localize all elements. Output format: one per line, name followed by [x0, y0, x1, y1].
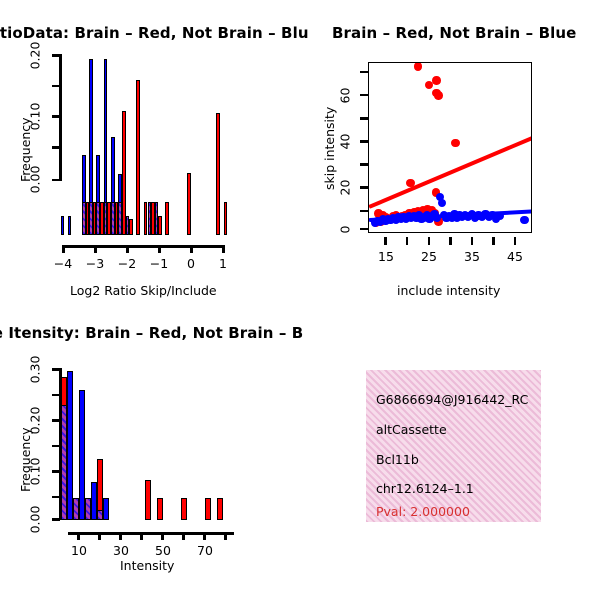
ratio-x-label-0: 0 [180, 256, 202, 271]
scatter-y-label-60: 60 [338, 85, 353, 107]
intensity-bar-red-12 [205, 498, 211, 520]
intensity-y-tick-005 [52, 496, 60, 499]
intensity-bar-overlap-3 [97, 510, 103, 520]
ratio-y-label-010: 0.10 [28, 100, 43, 134]
scatter-point-red-6 [406, 179, 414, 187]
scatter-x-label-45: 45 [503, 249, 527, 264]
probe-info-box: G6866694@J916442_RC altCassette Bcl11b c… [366, 370, 541, 522]
ratio-bar-red-9 [129, 219, 133, 235]
intensity-bar-red-10 [181, 498, 187, 520]
scatter-y-tick-70 [360, 71, 368, 74]
scatter-point-red-4 [434, 91, 442, 99]
intensity-bar-overlap-2 [85, 498, 91, 520]
intensity-x-label-30: 30 [109, 543, 133, 558]
scatter-y-tick-50 [360, 117, 368, 120]
intensity-y-tick-010 [52, 470, 60, 473]
ratio-y-label-000: 0.00 [28, 163, 43, 197]
ratio-bar-red-21 [216, 113, 219, 235]
ratio-histogram-plot-area [60, 55, 235, 235]
ratio-x-label-1: 1 [212, 256, 234, 271]
ratio-bar-red-11 [144, 202, 147, 235]
scatter-ylabel: skip intensity [322, 107, 337, 190]
scatter-x-tick-15 [384, 237, 387, 245]
info-locus: chr12.6124–1.1 [376, 481, 474, 496]
ratio-bar-red-13 [158, 216, 162, 235]
intensity-x-label-50: 50 [151, 543, 175, 558]
ratio-bar-overlap-7 [111, 202, 115, 235]
intensity-bar-red-8 [157, 498, 163, 520]
scatter-x-tick-30 [449, 237, 452, 245]
ratio-bar-overlap-13 [155, 202, 159, 235]
intensity-x-tick-60 [182, 532, 185, 540]
intensity-x-tick-20 [98, 532, 101, 540]
scatter-x-label-25: 25 [417, 249, 441, 264]
intensity-y-label-010: 0.10 [28, 455, 43, 489]
intensity-bar-overlap-0 [61, 405, 67, 520]
scatter-x-label-35: 35 [460, 249, 484, 264]
intensity-x-tick-70 [203, 532, 206, 540]
intensity-y-label-000: 0.00 [28, 503, 43, 537]
intensity-y-tick-030 [52, 368, 60, 371]
intensity-histogram-xlabel: Intensity [120, 558, 174, 573]
intensity-bar-blue-3 [103, 498, 109, 520]
scatter-point-red-2 [432, 76, 440, 84]
ratio-x-tick-m4 [62, 245, 65, 253]
scatter-xlabel: include intensity [397, 283, 500, 298]
ratio-histogram-xaxis [62, 245, 224, 248]
ratio-bar-overlap-5 [96, 202, 100, 235]
ratio-x-tick-0 [190, 245, 193, 253]
intensity-y-tick-020 [52, 419, 60, 422]
ratio-bar-red-10 [136, 80, 139, 235]
scatter-y-tick-10 [360, 210, 368, 213]
ratio-bar-red-22 [224, 202, 227, 235]
panel-ratio-histogram: RatioData: Brain – Red, Not Brain – Blu … [0, 0, 300, 300]
scatter-y-tick-0 [360, 228, 368, 231]
intensity-y-tick-025 [52, 394, 60, 397]
ratio-bar-red-17 [187, 173, 190, 235]
scatter-x-tick-35 [471, 237, 474, 245]
intensity-bar-overlap-1 [73, 498, 79, 520]
intensity-x-tick-50 [161, 532, 164, 540]
ratio-bar-overlap-4 [89, 202, 93, 235]
scatter-plot-area [368, 62, 532, 233]
intensity-x-tick-30 [119, 532, 122, 540]
ratio-x-label-m2: −2 [116, 256, 138, 271]
intensity-y-tick-015 [52, 445, 60, 448]
scatter-fit-line-red [368, 135, 532, 208]
ratio-y-tick-015 [52, 85, 60, 88]
scatter-x-tick-40 [492, 237, 495, 245]
scatter-y-tick-40 [360, 140, 368, 143]
panel-intensity-scatter: Brain – Red, Not Brain – Blue skip inten… [300, 0, 600, 300]
intensity-x-label-70: 70 [193, 543, 217, 558]
ratio-bar-blue-0 [61, 216, 64, 235]
intensity-y-tick-000 [52, 518, 60, 521]
intensity-histogram-plot-area [60, 365, 235, 520]
ratio-bar-red-14 [165, 202, 168, 235]
panel-intensity-histogram: ne Itensity: Brain – Red, Not Brain – B … [0, 300, 300, 600]
scatter-x-label-15: 15 [374, 249, 398, 264]
ratio-bar-overlap-9 [126, 216, 130, 235]
ratio-y-tick-000 [52, 179, 60, 182]
ratio-x-label-m4: −4 [52, 256, 74, 271]
scatter-y-label-0: 0 [338, 219, 353, 241]
ratio-histogram-title: RatioData: Brain – Red, Not Brain – Blu [0, 24, 309, 42]
scatter-point-red-0 [414, 62, 422, 70]
ratio-histogram-xlabel: Log2 Ratio Skip/Include [70, 283, 217, 298]
ratio-bar-overlap-6 [104, 202, 108, 235]
ratio-y-tick-010 [52, 115, 60, 118]
intensity-x-label-10: 10 [67, 543, 91, 558]
info-gene: Bcl11b [376, 452, 419, 467]
intensity-y-label-020: 0.20 [28, 404, 43, 438]
ratio-x-tick-m2 [126, 245, 129, 253]
scatter-point-red-5 [451, 139, 459, 147]
ratio-bar-blue-1 [68, 216, 71, 235]
ratio-histogram-yaxis [59, 54, 62, 181]
intensity-x-tick-40 [140, 532, 143, 540]
scatter-point-blue-46 [520, 216, 528, 224]
ratio-x-tick-1 [222, 245, 225, 253]
ratio-x-tick-m3 [94, 245, 97, 253]
scatter-y-label-40: 40 [338, 131, 353, 153]
ratio-bar-overlap-8 [118, 202, 122, 235]
info-event-type: altCassette [376, 422, 447, 437]
scatter-y-tick-60 [360, 94, 368, 97]
ratio-y-label-020: 0.20 [28, 39, 43, 73]
ratio-y-tick-020 [52, 54, 60, 57]
scatter-x-tick-20 [406, 237, 409, 245]
ratio-x-label-m1: −1 [148, 256, 170, 271]
info-pval: Pval: 2.000000 [376, 504, 470, 519]
scatter-title: Brain – Red, Not Brain – Blue [332, 24, 576, 42]
scatter-x-tick-25 [428, 237, 431, 245]
scatter-x-tick-45 [514, 237, 517, 245]
ratio-bar-overlap-3 [82, 202, 86, 235]
scatter-y-tick-30 [360, 163, 368, 166]
intensity-bar-red-7 [145, 480, 151, 520]
info-probe-id: G6866694@J916442_RC [376, 392, 528, 407]
intensity-y-label-030: 0.30 [28, 353, 43, 387]
ratio-x-tick-m1 [158, 245, 161, 253]
intensity-x-tick-80 [224, 532, 227, 540]
intensity-histogram-title: ne Itensity: Brain – Red, Not Brain – B [0, 324, 303, 342]
scatter-point-blue-45 [495, 212, 503, 220]
plot-canvas: RatioData: Brain – Red, Not Brain – Blu … [0, 0, 600, 600]
scatter-point-blue-1 [438, 199, 446, 207]
intensity-bar-red-13 [217, 498, 223, 520]
ratio-bar-overlap-12 [148, 202, 152, 235]
intensity-histogram-xaxis [68, 532, 234, 535]
scatter-y-tick-20 [360, 186, 368, 189]
intensity-x-tick-10 [77, 532, 80, 540]
ratio-x-label-m3: −3 [84, 256, 106, 271]
scatter-y-label-20: 20 [338, 177, 353, 199]
ratio-y-tick-005 [52, 146, 60, 149]
